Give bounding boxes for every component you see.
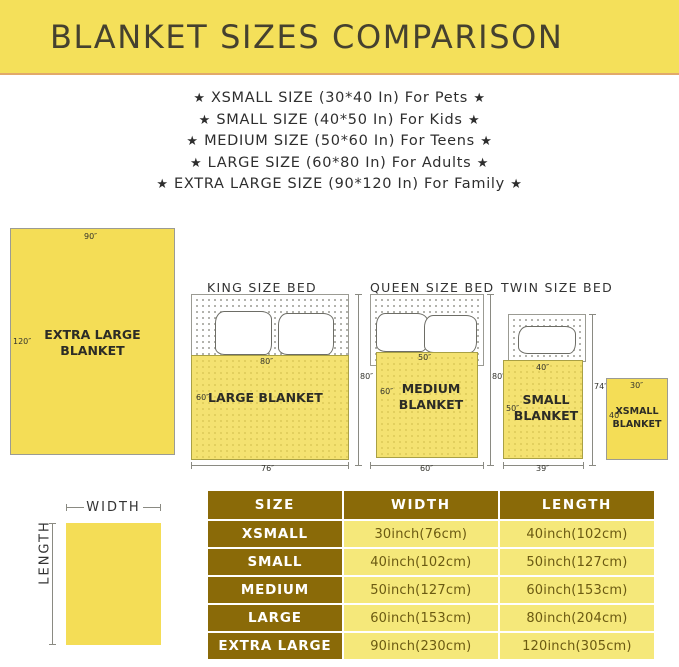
cell-width: 30inch(76cm)	[344, 521, 498, 547]
queen-pillow-right	[424, 315, 477, 353]
extra-large-blanket-label: EXTRA LARGE BLANKET	[10, 327, 175, 359]
twin-pillow	[518, 326, 576, 354]
twin-height-dimension-line	[592, 314, 593, 466]
queen-pillow-left	[376, 313, 428, 352]
column-header-length: LENGTH	[500, 491, 654, 519]
legend-length-line	[52, 523, 53, 645]
medium-label-line1: MEDIUM	[384, 381, 478, 397]
table-row: MEDIUM 50inch(127cm) 60inch(153cm)	[208, 577, 654, 603]
queen-height-tick-bottom	[487, 465, 494, 466]
twin-dim-bottom: 39″	[536, 464, 549, 473]
cell-size: SMALL	[208, 549, 342, 575]
king-height-tick-bottom	[355, 465, 362, 466]
twin-dim-top: 40″	[536, 363, 549, 372]
queen-bed-title: QUEEN SIZE BED	[370, 280, 494, 295]
column-header-size: SIZE	[208, 491, 342, 519]
cell-length: 40inch(102cm)	[500, 521, 654, 547]
table-row: EXTRA LARGE 90inch(230cm) 120inch(305cm)	[208, 633, 654, 659]
column-header-width: WIDTH	[344, 491, 498, 519]
xsmall-dim-top: 30″	[630, 381, 643, 390]
extra-large-dim-top: 90″	[84, 232, 97, 241]
cell-size: EXTRA LARGE	[208, 633, 342, 659]
king-width-tick-left	[191, 462, 192, 469]
cell-length: 80inch(204cm)	[500, 605, 654, 631]
cell-width: 40inch(102cm)	[344, 549, 498, 575]
small-blanket-label: SMALL BLANKET	[509, 392, 583, 424]
small-label-line1: SMALL	[509, 392, 583, 408]
king-dim-top: 80″	[260, 357, 273, 366]
cell-length: 60inch(153cm)	[500, 577, 654, 603]
king-dim-right: 80″	[360, 372, 373, 381]
queen-width-tick-right	[483, 462, 484, 469]
king-dim-bottom: 76″	[261, 464, 274, 473]
table-row: SMALL 40inch(102cm) 50inch(127cm)	[208, 549, 654, 575]
queen-width-tick-left	[370, 462, 371, 469]
legend-width-line-left	[66, 507, 84, 508]
queen-dim-bottom: 60″	[420, 464, 433, 473]
large-blanket-label: LARGE BLANKET	[208, 390, 348, 406]
cell-size: XSMALL	[208, 521, 342, 547]
xsmall-label-line1: XSMALL	[606, 406, 668, 419]
king-pillow-left	[215, 311, 272, 355]
queen-height-tick-top	[487, 294, 494, 295]
table-row: LARGE 60inch(153cm) 80inch(204cm)	[208, 605, 654, 631]
legend-length-label: LENGTH	[38, 513, 53, 593]
twin-width-tick-left	[503, 462, 504, 469]
small-label-line2: BLANKET	[509, 408, 583, 424]
legend-length-tick-bottom	[49, 644, 56, 645]
large-blanket-shape	[191, 355, 349, 460]
table-header-row: SIZE WIDTH LENGTH	[208, 491, 654, 519]
twin-height-tick-bottom	[589, 465, 596, 466]
cell-length: 120inch(305cm)	[500, 633, 654, 659]
queen-dim-top: 50″	[418, 353, 431, 362]
king-width-tick-right	[348, 462, 349, 469]
extra-large-label-line1: EXTRA LARGE	[10, 327, 175, 343]
medium-label-line2: BLANKET	[384, 397, 478, 413]
king-height-tick-top	[355, 294, 362, 295]
cell-size: MEDIUM	[208, 577, 342, 603]
legend-width-tick-left	[66, 504, 67, 511]
medium-blanket-label: MEDIUM BLANKET	[384, 381, 478, 413]
queen-height-dimension-line	[490, 294, 491, 466]
king-height-dimension-line	[358, 294, 359, 466]
twin-height-tick-top	[589, 314, 596, 315]
cell-size: LARGE	[208, 605, 342, 631]
size-chart-table: SIZE WIDTH LENGTH XSMALL 30inch(76cm) 40…	[206, 489, 656, 661]
cell-width: 60inch(153cm)	[344, 605, 498, 631]
legend-length-tick-top	[49, 523, 56, 524]
twin-bed-title: TWIN SIZE BED	[501, 280, 613, 295]
cell-width: 90inch(230cm)	[344, 633, 498, 659]
twin-width-tick-right	[583, 462, 584, 469]
legend-swatch	[66, 523, 161, 645]
king-pillow-right	[278, 313, 334, 355]
legend-width-line-right	[143, 507, 161, 508]
extra-large-label-line2: BLANKET	[10, 343, 175, 359]
legend-width-tick-right	[160, 504, 161, 511]
table-row: XSMALL 30inch(76cm) 40inch(102cm)	[208, 521, 654, 547]
king-bed-title: KING SIZE BED	[207, 280, 317, 295]
xsmall-blanket-label: XSMALL BLANKET	[606, 406, 668, 431]
cell-length: 50inch(127cm)	[500, 549, 654, 575]
cell-width: 50inch(127cm)	[344, 577, 498, 603]
xsmall-label-line2: BLANKET	[606, 419, 668, 432]
